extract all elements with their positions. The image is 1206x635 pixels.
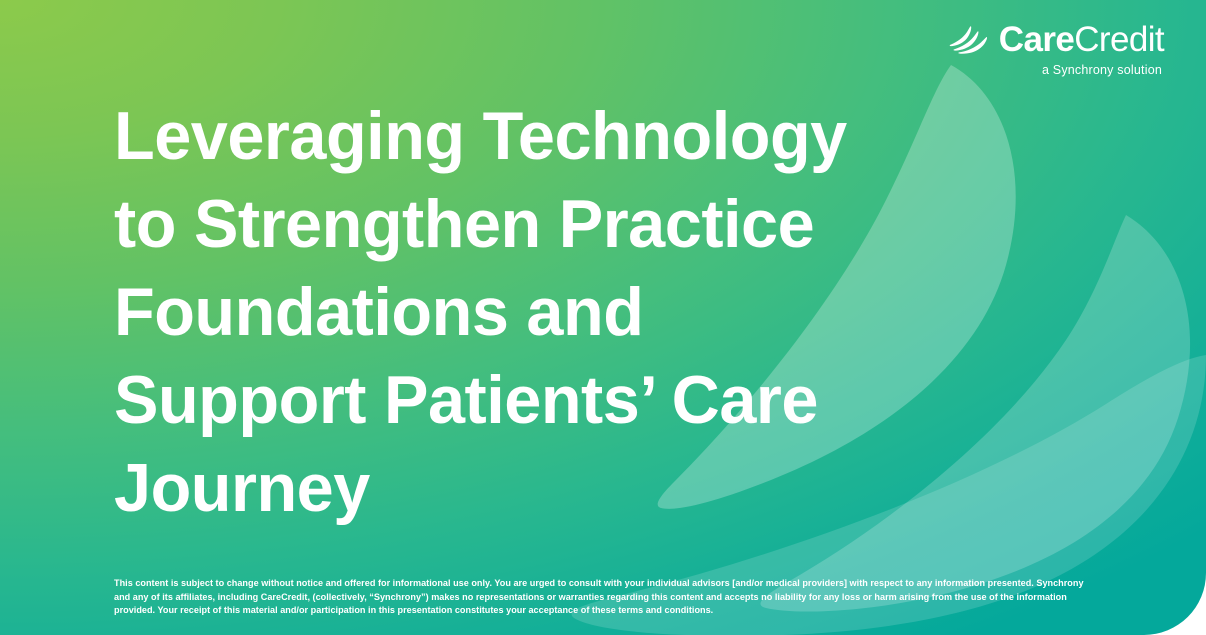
wordmark-credit: Credit [1074, 20, 1164, 59]
logo-row: CareCredit [948, 22, 1164, 57]
synchrony-swoosh-icon [948, 24, 990, 54]
slide-background-gradient: CareCredit a Synchrony solution Leveragi… [0, 0, 1206, 635]
legal-disclaimer: This content is subject to change withou… [114, 577, 1084, 617]
page-title: Leveraging Technology to Strengthen Prac… [114, 92, 976, 532]
carecredit-logo: CareCredit a Synchrony solution [948, 22, 1164, 77]
wordmark-care: Care [999, 20, 1074, 59]
carecredit-wordmark: CareCredit [999, 22, 1164, 57]
title-slide: CareCredit a Synchrony solution Leveragi… [0, 0, 1206, 635]
brand-tagline: a Synchrony solution [1042, 64, 1162, 77]
